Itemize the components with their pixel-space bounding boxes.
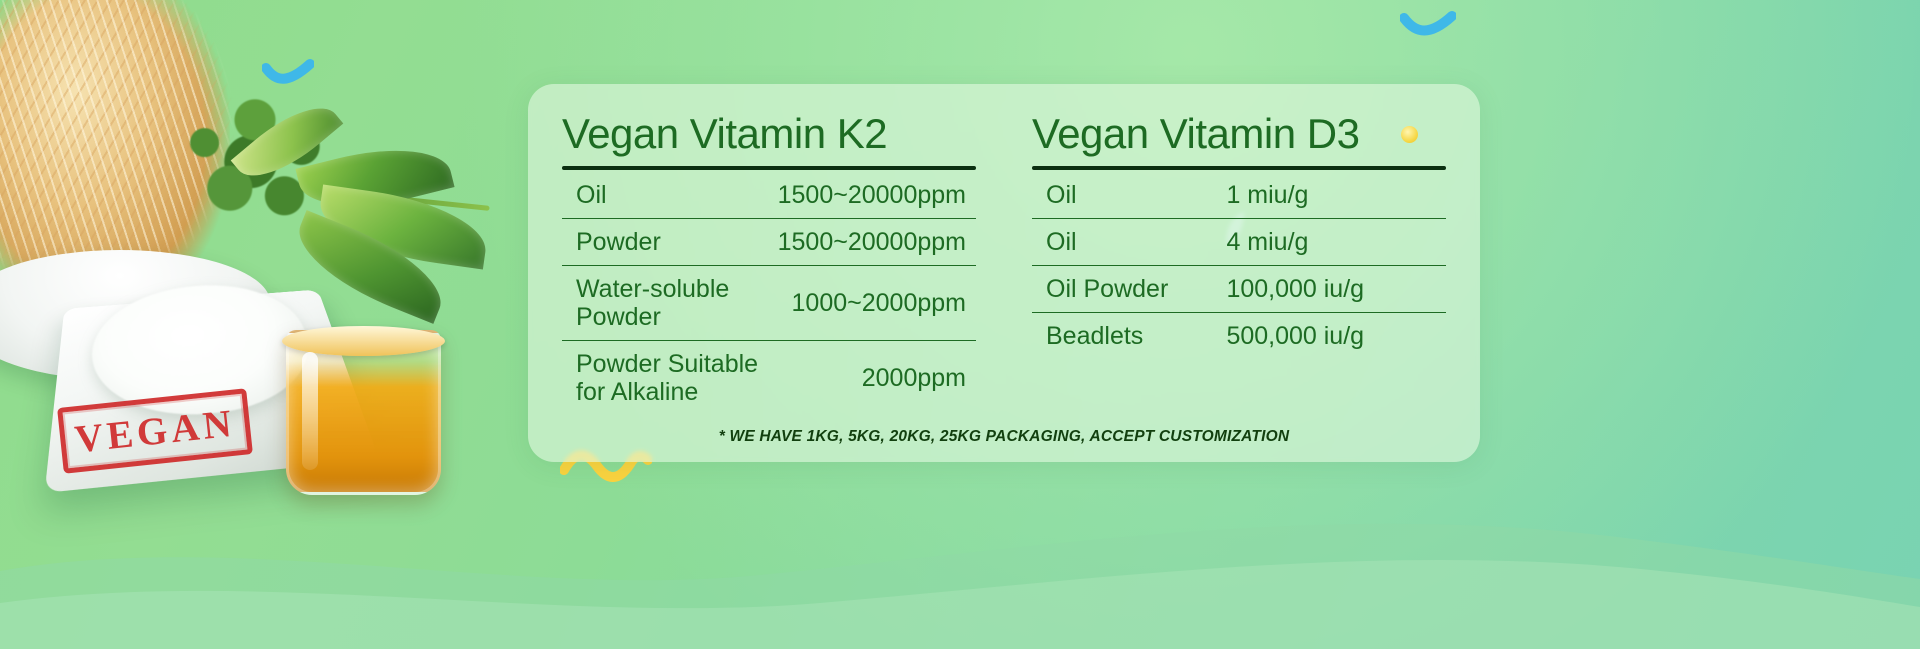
white-bowl-photo — [0, 250, 270, 380]
table-row: Beadlets 500,000 iu/g — [1032, 313, 1446, 360]
spec-value: 100,000 iu/g — [1222, 266, 1446, 313]
spec-column-vitamin-k2: Vegan Vitamin K2 Oil 1500~20000ppm Powde… — [562, 110, 976, 415]
natto-beans-photo — [0, 0, 230, 322]
spec-table-k2: Oil 1500~20000ppm Powder 1500~20000ppm W… — [562, 172, 976, 415]
blue-check-stroke-icon — [1400, 10, 1456, 44]
table-row: Oil 1500~20000ppm — [562, 172, 976, 219]
spec-column-vitamin-d3: Vegan Vitamin D3 Oil 1 miu/g Oil 4 miu/g… — [1032, 110, 1446, 415]
blue-check-stroke-icon — [262, 58, 314, 92]
column-title-d3-text: Vegan Vitamin D3 — [1032, 110, 1359, 157]
leaf-shape — [285, 210, 455, 324]
spec-label: Powder — [562, 219, 774, 266]
spec-label: Water-soluble Powder — [562, 266, 774, 341]
spec-value: 4 miu/g — [1222, 219, 1446, 266]
spec-label: Oil — [1032, 172, 1222, 219]
spec-label: Beadlets — [1032, 313, 1222, 360]
spec-value: 1 miu/g — [1222, 172, 1446, 219]
packaging-footnote: * WE HAVE 1KG, 5KG, 20KG, 25KG PACKAGING… — [528, 428, 1480, 446]
plant-stem — [300, 186, 489, 211]
leaf-shape — [231, 90, 344, 194]
table-row: Oil Powder 100,000 iu/g — [1032, 266, 1446, 313]
title-underline — [1032, 166, 1446, 170]
spec-label: Oil — [562, 172, 774, 219]
spec-value: 1500~20000ppm — [774, 219, 976, 266]
table-row: Oil 1 miu/g — [1032, 172, 1446, 219]
oil-glass-rim — [282, 326, 445, 356]
spec-label: Oil — [1032, 219, 1222, 266]
oil-glass-highlight — [302, 352, 318, 470]
leaf-shape — [315, 184, 492, 269]
column-title-d3: Vegan Vitamin D3 — [1032, 110, 1446, 166]
product-spec-panel: Vegan Vitamin K2 Oil 1500~20000ppm Powde… — [528, 84, 1480, 462]
broccoli-photo — [150, 78, 360, 268]
spec-value: 1000~2000ppm — [774, 266, 976, 341]
leaf-shape — [295, 133, 454, 224]
natto-strands-texture — [0, 0, 236, 300]
column-title-k2: Vegan Vitamin K2 — [562, 110, 976, 166]
spec-value: 2000ppm — [774, 341, 976, 416]
yellow-squiggle-icon — [52, 22, 138, 52]
table-row: Powder 1500~20000ppm — [562, 219, 976, 266]
spec-table-d3: Oil 1 miu/g Oil 4 miu/g Oil Powder 100,0… — [1032, 172, 1446, 359]
spec-label: Oil Powder — [1032, 266, 1222, 313]
table-row: Oil 4 miu/g — [1032, 219, 1446, 266]
sun-dot-icon — [1401, 126, 1418, 143]
bottom-wave-decoration — [0, 479, 1920, 649]
spec-label: Powder Suitable for Alkaline — [562, 341, 774, 416]
table-row: Powder Suitable for Alkaline 2000ppm — [562, 341, 976, 416]
table-row: Water-soluble Powder 1000~2000ppm — [562, 266, 976, 341]
spec-value: 1500~20000ppm — [774, 172, 976, 219]
title-underline — [562, 166, 976, 170]
vegan-stamp: VEGAN — [57, 388, 253, 473]
spec-value: 500,000 iu/g — [1222, 313, 1446, 360]
spec-columns: Vegan Vitamin K2 Oil 1500~20000ppm Powde… — [528, 84, 1480, 415]
oil-glass-photo — [286, 330, 441, 495]
